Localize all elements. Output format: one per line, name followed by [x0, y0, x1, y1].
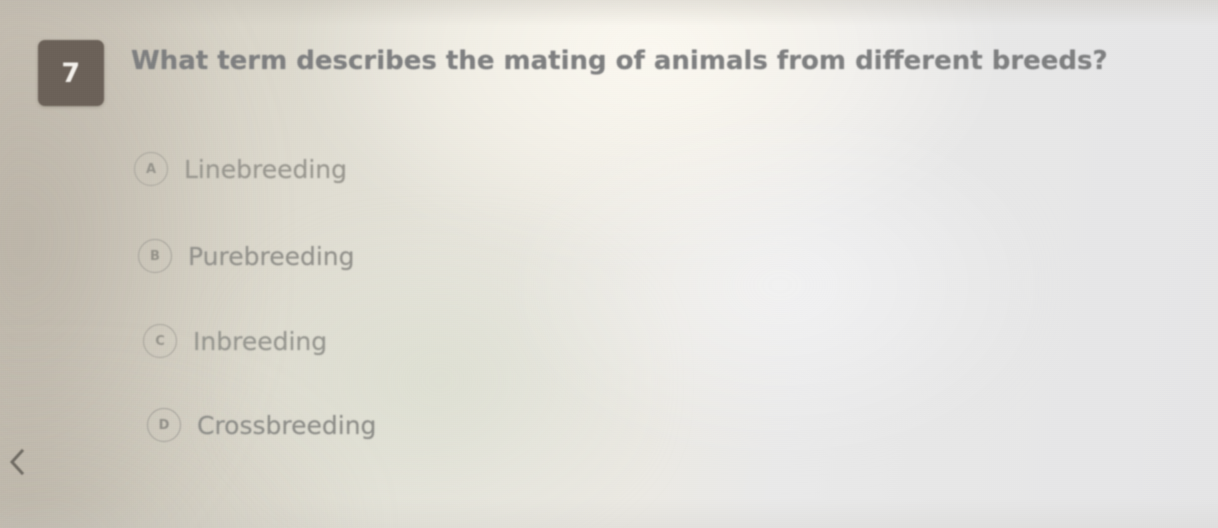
back-button[interactable] [2, 444, 32, 480]
option-label-b[interactable]: Purebreeding [188, 242, 354, 271]
question-header: 7 What term describes the mating of anim… [38, 40, 1108, 106]
answer-option-c[interactable]: C Inbreeding [143, 324, 327, 358]
option-label-d[interactable]: Crossbreeding [197, 411, 376, 440]
option-label-c[interactable]: Inbreeding [193, 327, 327, 356]
answer-option-a[interactable]: A Linebreeding [134, 152, 347, 186]
quiz-question-screen: 7 What term describes the mating of anim… [0, 0, 1218, 528]
option-marker-d[interactable]: D [147, 408, 181, 442]
quiz-content: 7 What term describes the mating of anim… [0, 0, 1218, 528]
question-number-badge: 7 [38, 40, 104, 106]
option-marker-c[interactable]: C [143, 324, 177, 358]
option-marker-b[interactable]: B [138, 239, 172, 273]
chevron-left-icon [6, 447, 28, 477]
question-text: What term describes the mating of animal… [131, 45, 1108, 78]
option-label-a[interactable]: Linebreeding [184, 155, 347, 184]
answer-option-b[interactable]: B Purebreeding [138, 239, 354, 273]
answer-option-d[interactable]: D Crossbreeding [147, 408, 376, 442]
option-marker-a[interactable]: A [134, 152, 168, 186]
